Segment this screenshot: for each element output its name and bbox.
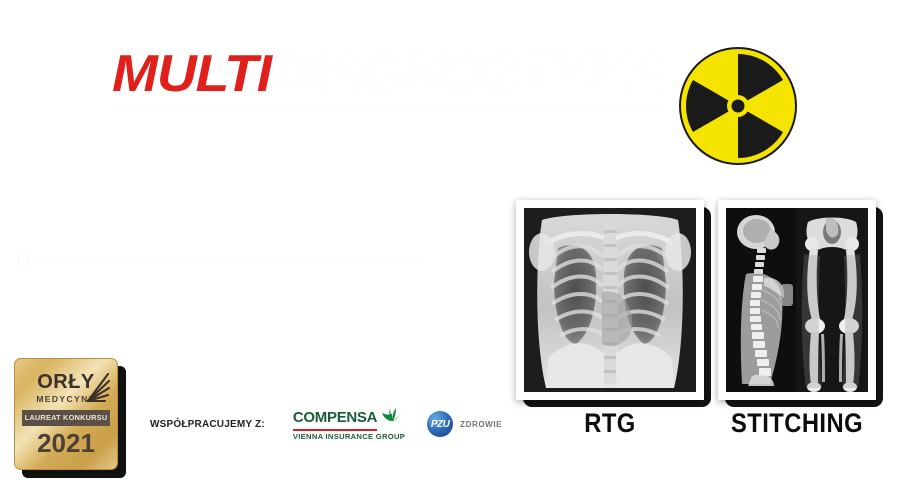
- brand-wordmark: MULTI DIAGNOSTYKA: [112, 48, 672, 100]
- award-ribbon-label: LAUREAT KONKURSU: [25, 413, 108, 422]
- xray-card-stitching: STITCHING: [718, 200, 876, 400]
- partners-label: WSPÓŁPRACUJEMY Z:: [150, 419, 265, 430]
- compensa-logo: COMPENSA VIENNA INSURANCE GROUP: [293, 408, 405, 441]
- award-badge-face: ORŁY MEDYCYNY LAUREAT KONKURSU 2021: [14, 358, 118, 470]
- brand-divider: [112, 106, 660, 107]
- compensa-wordmark: COMPENSA: [293, 410, 377, 425]
- promo-banner: MULTI DIAGNOSTYKA PRACOWNIA CYFROWEJ DIA…: [0, 0, 900, 497]
- brand-lockup: MULTI DIAGNOSTYKA PRACOWNIA CYFROWEJ DIA…: [112, 48, 672, 143]
- compensa-group-name: VIENNA INSURANCE GROUP: [293, 433, 405, 441]
- spine-and-legs-xray-image: [726, 208, 868, 392]
- eagle-wing-icon: [85, 371, 111, 410]
- chest-xray-image: [524, 208, 696, 392]
- xray-card-frame: [516, 200, 704, 400]
- award-year: 2021: [37, 430, 95, 456]
- brand-subtitle: PRACOWNIA CYFROWEJ DIAGNOSTYKI OBRAZOWEJ: [112, 114, 666, 143]
- feature-bullet-icon: [18, 255, 29, 266]
- feature-divider: [18, 259, 428, 260]
- pzu-logo: PZU ZDROWIE: [427, 411, 502, 437]
- xray-card-frame: [718, 200, 876, 400]
- feature-heading-rtg: RTG: [18, 205, 438, 249]
- feature-description: całego kręgosłupa i całych kończyn dolny…: [18, 314, 438, 338]
- radiation-trefoil-icon: [678, 46, 798, 166]
- xray-card-rtg: RTG: [516, 200, 704, 400]
- compensa-fan-icon: [382, 408, 402, 427]
- xray-card-label-rtg: RTG: [527, 408, 692, 439]
- brand-name-multi: MULTI: [112, 48, 271, 100]
- brand-name-diagnostyka: DIAGNOSTYKA: [270, 48, 666, 100]
- compensa-underline: [293, 429, 377, 431]
- pzu-mark-icon: PZU: [427, 411, 453, 437]
- feature-list: RTG STITCHING całego kręgosłupa i całych…: [18, 205, 438, 338]
- pzu-wordmark: ZDROWIE: [460, 420, 502, 429]
- pzu-mark-label: PZU: [431, 419, 450, 430]
- partners-row: WSPÓŁPRACUJEMY Z: COMPENSA VIENNA: [150, 408, 502, 441]
- compensa-logo-top: COMPENSA: [293, 408, 402, 427]
- xray-card-label-stitching: STITCHING: [727, 408, 866, 439]
- award-badge: ORŁY MEDYCYNY LAUREAT KONKURSU 2021: [14, 358, 122, 476]
- award-ribbon: LAUREAT KONKURSU: [22, 410, 110, 426]
- feature-heading-stitching: STITCHING: [18, 270, 438, 308]
